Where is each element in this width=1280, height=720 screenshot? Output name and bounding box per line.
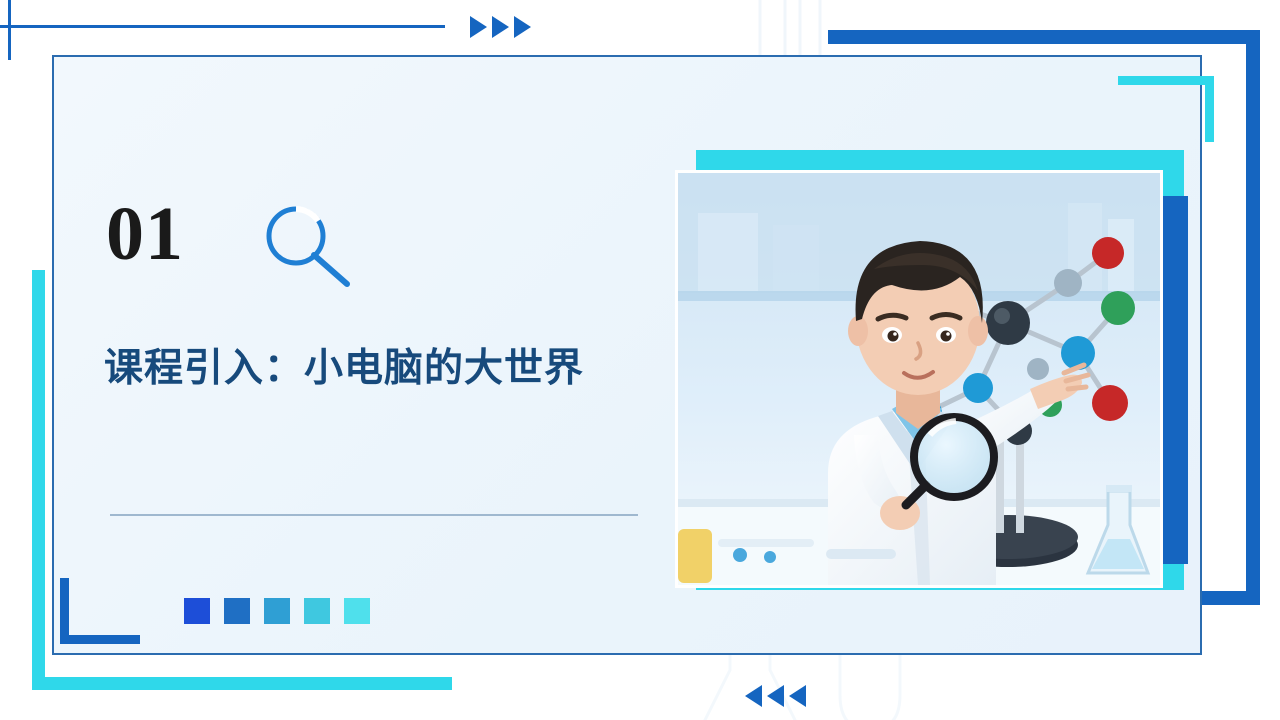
decor-corner-bottom-left — [60, 578, 140, 644]
decor-square-1 — [184, 598, 210, 624]
decor-blue-bar — [1150, 30, 1260, 44]
left-rule — [8, 0, 11, 60]
decor-square-4 — [304, 598, 330, 624]
triangle-right-icon — [514, 16, 531, 38]
top-arrow-group — [470, 16, 531, 38]
title-divider — [110, 514, 638, 516]
top-rule — [0, 25, 445, 28]
decor-cyan-frame-bottom — [32, 677, 452, 690]
decor-square-5 — [344, 598, 370, 624]
slide-root: 01 课程引入：小电脑的大世界 — [0, 0, 1280, 720]
page-title: 课程引入：小电脑的大世界 — [104, 340, 664, 398]
decor-corner-top-right — [1118, 76, 1214, 142]
magnifier-icon — [254, 200, 364, 292]
decor-square-row — [184, 598, 370, 624]
triangle-right-icon — [470, 16, 487, 38]
triangle-left-icon — [789, 685, 806, 707]
triangle-right-icon — [492, 16, 509, 38]
decor-square-3 — [264, 598, 290, 624]
lesson-photo — [675, 170, 1163, 588]
triangle-left-icon — [767, 685, 784, 707]
bottom-arrow-group — [745, 685, 806, 707]
decor-square-2 — [224, 598, 250, 624]
section-number: 01 — [106, 196, 184, 272]
triangle-left-icon — [745, 685, 762, 707]
